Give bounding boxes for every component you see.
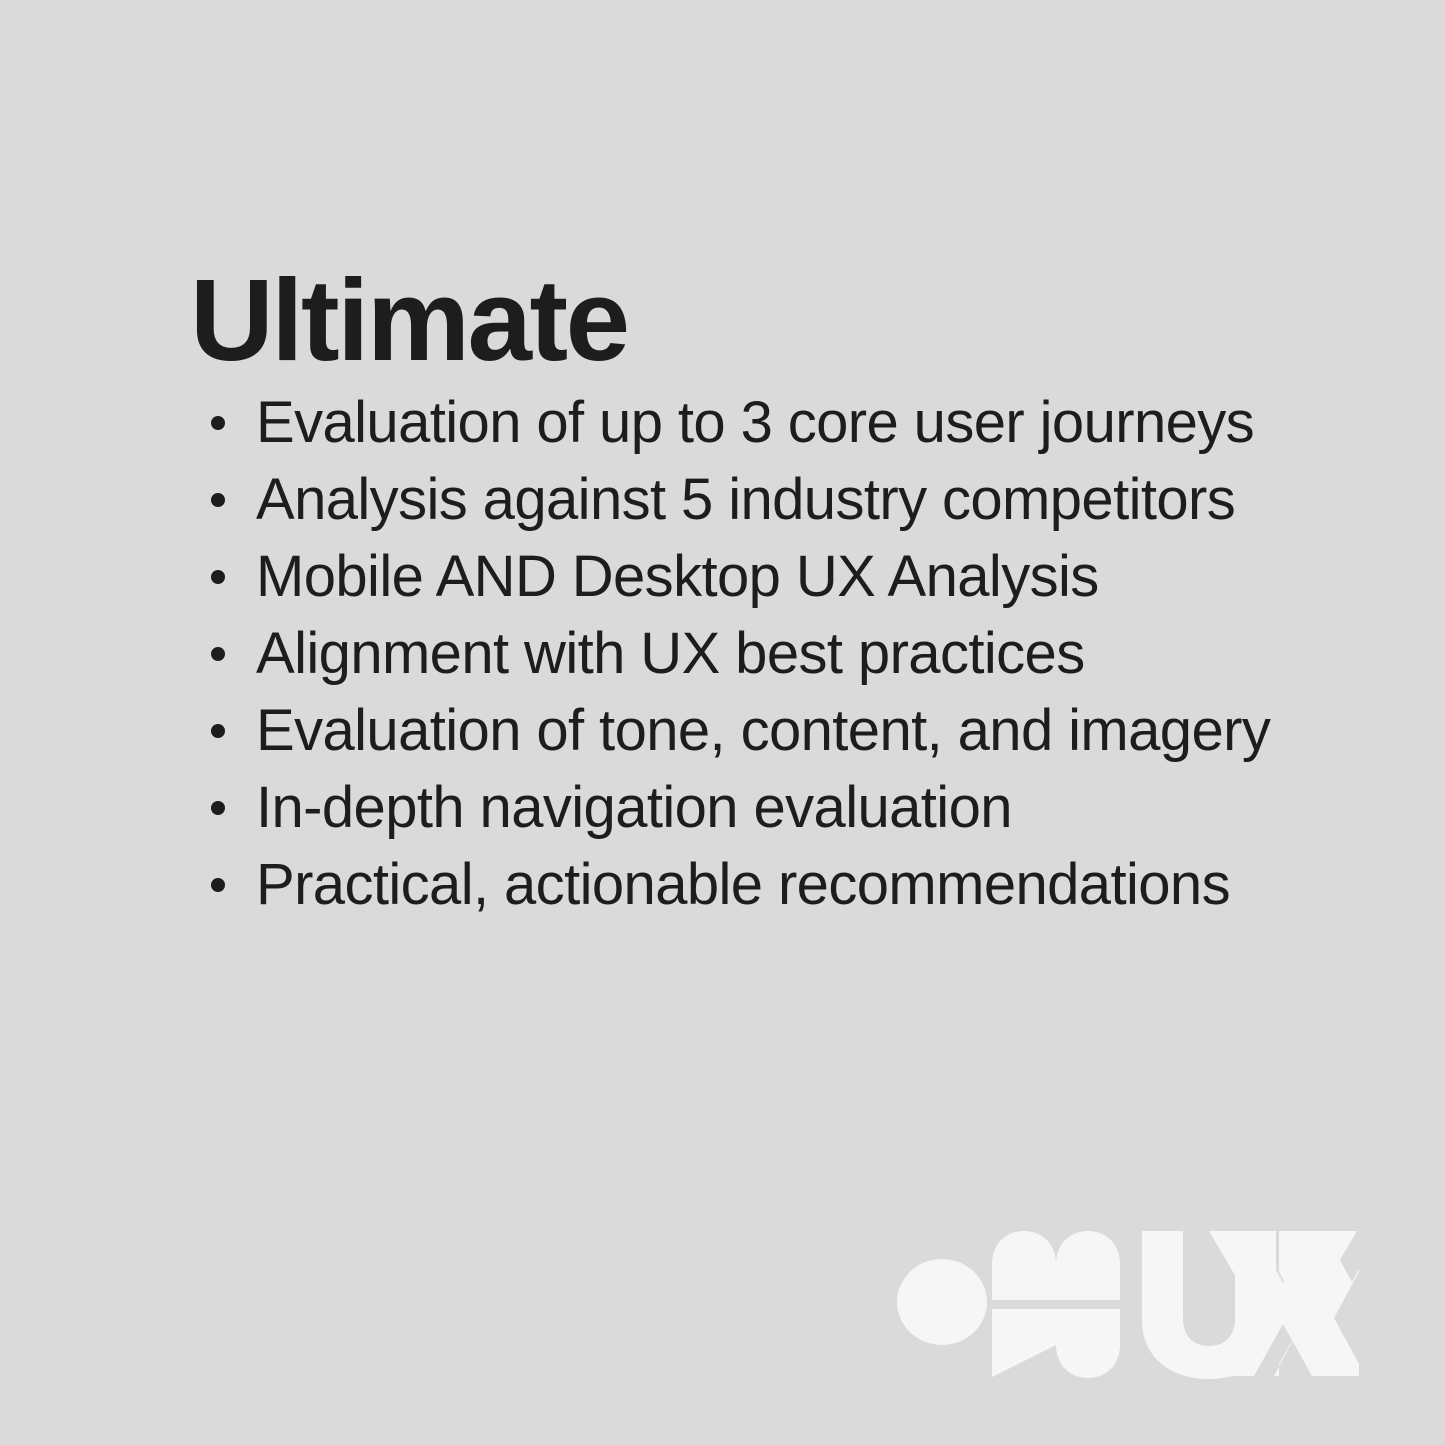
list-item-label: Practical, actionable recommendations (256, 846, 1230, 923)
list-item-label: Alignment with UX best practices (256, 615, 1085, 692)
list-item-label: In-depth navigation evaluation (256, 769, 1012, 846)
list-item-label: Evaluation of up to 3 core user journeys (256, 384, 1254, 461)
feature-list: Evaluation of up to 3 core user journeys… (190, 384, 1370, 923)
list-item: Analysis against 5 industry competitors (190, 461, 1370, 538)
list-item: Evaluation of tone, content, and imagery (190, 692, 1370, 769)
list-item-label: Mobile AND Desktop UX Analysis (256, 538, 1099, 615)
bullet-icon (211, 801, 225, 815)
bullet-icon (211, 493, 225, 507)
list-item: Mobile AND Desktop UX Analysis (190, 538, 1370, 615)
logo-circle-icon (897, 1259, 987, 1345)
logo-mark-bottom-icon (992, 1309, 1120, 1378)
bullet-icon (211, 416, 225, 430)
list-item-label: Evaluation of tone, content, and imagery (256, 692, 1270, 769)
logo-mark-top-icon (992, 1231, 1120, 1300)
bullet-icon (211, 647, 225, 661)
list-item: Practical, actionable recommendations (190, 846, 1370, 923)
bullet-icon (211, 570, 225, 584)
bullet-icon (211, 878, 225, 892)
list-item: Evaluation of up to 3 core user journeys (190, 384, 1370, 461)
list-item: In-depth navigation evaluation (190, 769, 1370, 846)
bullet-icon (211, 724, 225, 738)
list-item-label: Analysis against 5 industry competitors (256, 461, 1235, 538)
list-item: Alignment with UX best practices (190, 615, 1370, 692)
pricing-tier-card: Ultimate Evaluation of up to 3 core user… (0, 0, 1445, 1445)
brand-logo (896, 1228, 1360, 1380)
page-title: Ultimate (190, 262, 628, 378)
